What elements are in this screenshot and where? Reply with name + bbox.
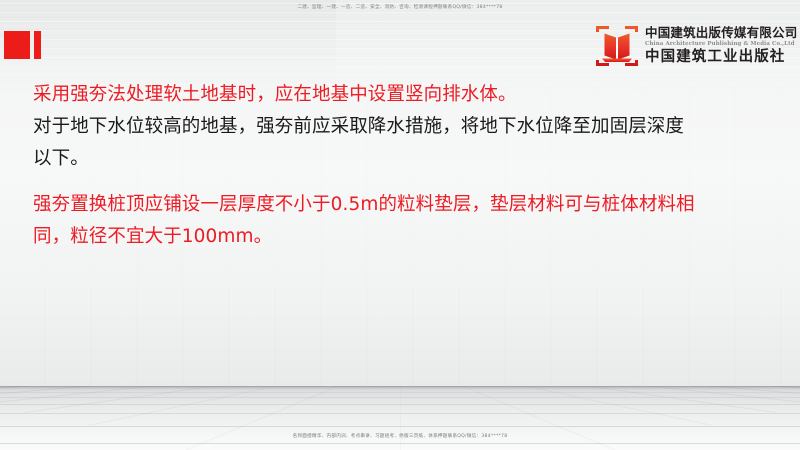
publisher-logo: 中国建筑出版传媒有限公司 China Architecture Publishi…: [596, 24, 796, 68]
publisher-company-name-en: China Architecture Publishing & Media Co…: [645, 42, 797, 47]
red-accent-block: [4, 31, 30, 59]
body-line-1: 采用强夯法处理软土地基时，应在地基中设置竖向排水体。: [33, 79, 777, 111]
perspective-floor: [0, 386, 800, 450]
red-accent-bar: [34, 31, 41, 59]
paragraph-gap: [33, 175, 777, 189]
floor-grid-line-converging: [24, 386, 214, 413]
body-line-4: 强夯置换桩顶应铺设一层厚度不小于0.5m的粒料垫层，垫层材料可与桩体材料相: [33, 189, 777, 221]
footer-promo-note: 名师面授精华、内部内训、考点串讲、习题组考、绝版三页纸、体系押题联系QQ/微信：…: [0, 433, 800, 440]
body-line-2: 对于地下水位较高的地基，强夯前应采取降水措施，将地下水位降至加固层深度: [33, 111, 777, 143]
presentation-slide: 二建、监理、一建、一造、二造、安全、消防、咨询、检测课程押题联系QQ/微信：38…: [0, 0, 800, 450]
open-book-logo-mark-icon: [596, 26, 638, 66]
publisher-company-name-cn: 中国建筑出版传媒有限公司: [645, 27, 797, 40]
publisher-imprint-name-cn: 中国建筑工业出版社: [645, 50, 797, 65]
slide-body-text: 采用强夯法处理软土地基时，应在地基中设置竖向排水体。对于地下水位较高的地基，强夯…: [33, 79, 777, 253]
floor-grid-line-converging: [400, 386, 401, 450]
header-promo-note: 二建、监理、一建、一造、二造、安全、消防、咨询、检测课程押题联系QQ/微信：38…: [0, 4, 800, 11]
floor-grid: [0, 386, 800, 450]
publisher-logo-text: 中国建筑出版传媒有限公司 China Architecture Publishi…: [645, 27, 797, 65]
body-line-5: 同，粒径不宜大于100mm。: [33, 221, 777, 253]
body-line-3: 以下。: [33, 143, 777, 175]
